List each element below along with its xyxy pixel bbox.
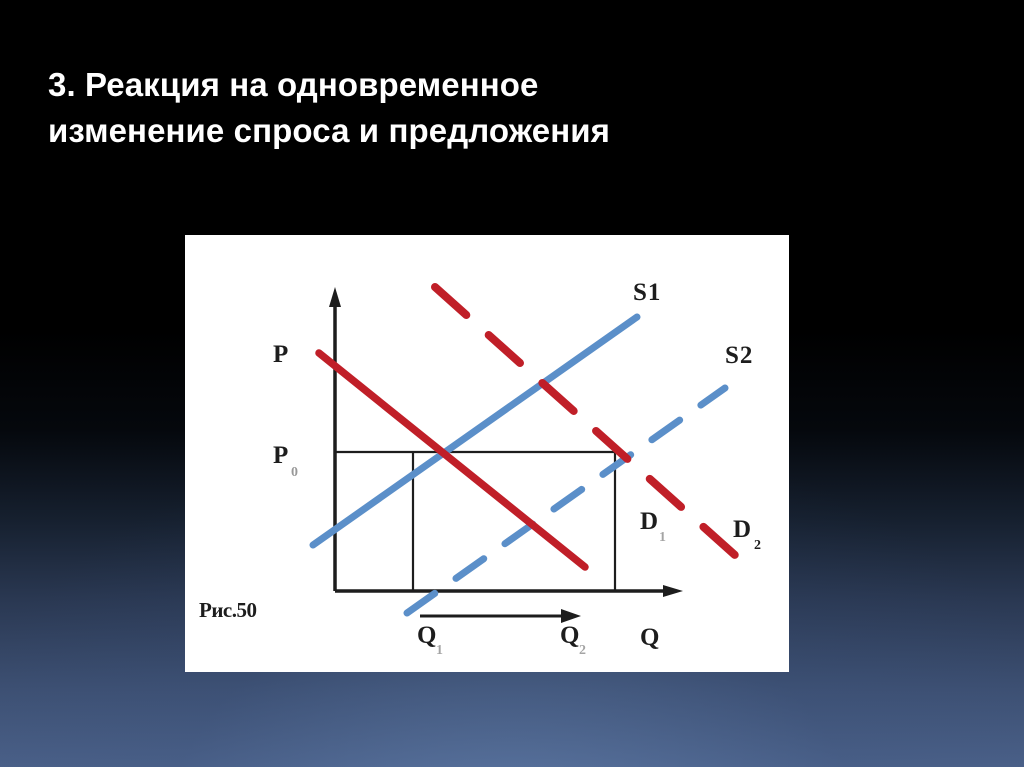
- figure-caption: Рис.50: [199, 598, 257, 622]
- demand-1-label: D: [640, 508, 659, 535]
- equilibrium-guides: [335, 452, 615, 591]
- supply-1-label: S1: [633, 279, 661, 306]
- quantity-1-letter: Q: [417, 622, 436, 649]
- supply-curve-s1: [313, 317, 637, 545]
- price-level-subscript: 0: [291, 465, 298, 480]
- quantity-shift-arrow: [420, 609, 581, 623]
- slide: 3. Реакция на одновременное изменение сп…: [0, 0, 1024, 767]
- quantity-1-subscript: 1: [436, 643, 443, 658]
- quantity-1-label: Q 1: [417, 622, 443, 658]
- chart-axes: [329, 287, 683, 597]
- supply-demand-chart: P P 0 D 1 D 2 S1 S2 Q 1 Q 2 Q Рис.50: [185, 235, 789, 672]
- price-level-letter: P: [273, 442, 288, 469]
- demand-2-subscript: 2: [754, 538, 761, 553]
- demand-curve-d2: [435, 287, 755, 573]
- quantity-2-subscript: 2: [579, 643, 586, 658]
- demand-1-subscript: 1: [659, 530, 666, 545]
- demand-2-label: D: [733, 516, 752, 543]
- supply-2-label: S2: [725, 342, 753, 369]
- x-axis-arrowhead: [663, 585, 683, 597]
- y-axis-label: P: [273, 341, 288, 368]
- price-level-label: P 0: [273, 442, 298, 480]
- shift-arrow-head: [561, 609, 581, 623]
- figure-card: P P 0 D 1 D 2 S1 S2 Q 1 Q 2 Q Рис.50: [185, 235, 789, 672]
- quantity-2-label: Q 2: [560, 622, 586, 658]
- x-axis-label: Q: [640, 624, 659, 651]
- quantity-2-letter: Q: [560, 622, 579, 649]
- y-axis-arrowhead: [329, 287, 341, 307]
- slide-title: 3. Реакция на одновременное изменение сп…: [48, 62, 948, 153]
